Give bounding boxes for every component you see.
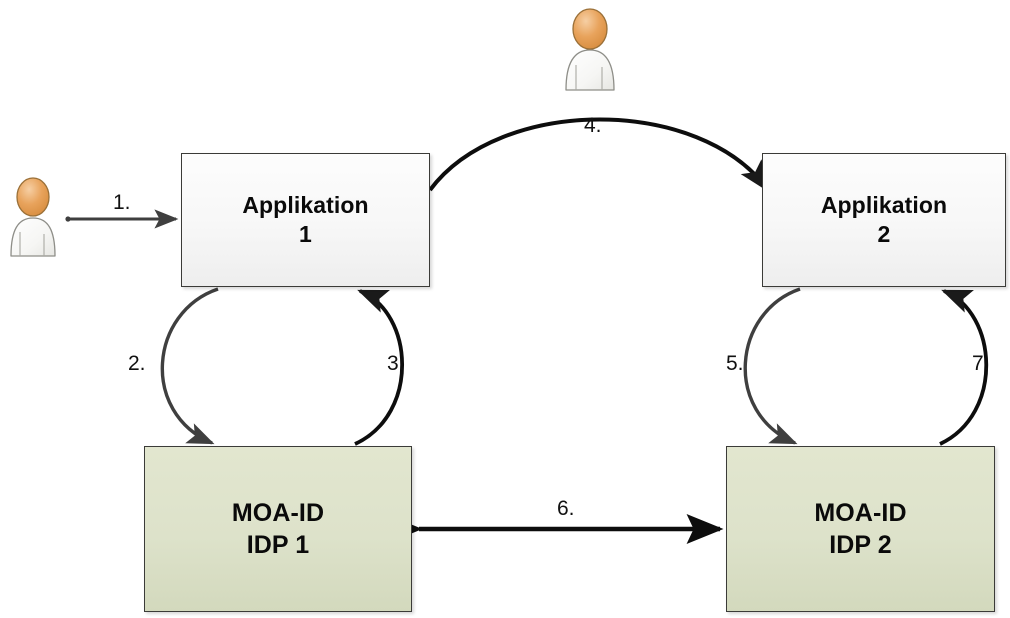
- step-6-label: 6.: [557, 498, 575, 519]
- application-1-index: 1: [299, 220, 312, 249]
- step-1-label: 1.: [113, 192, 131, 213]
- person-icon: [557, 4, 623, 92]
- application-2-title: Applikation: [821, 191, 947, 220]
- person-icon: [4, 172, 62, 258]
- user-actor-top: [557, 4, 623, 92]
- diagram-canvas: Applikation 1 Applikation 2 MOA-ID IDP 1…: [0, 0, 1010, 618]
- moa-id-idp-2-index: IDP 2: [829, 529, 892, 561]
- user-actor-left: [4, 172, 62, 258]
- step-7-label: 7.: [972, 353, 990, 374]
- connector-step-2: [162, 289, 218, 443]
- application-1-title: Applikation: [242, 191, 368, 220]
- moa-id-idp-2-node[interactable]: MOA-ID IDP 2: [726, 446, 995, 612]
- moa-id-idp-2-title: MOA-ID: [814, 497, 906, 529]
- application-2-node[interactable]: Applikation 2: [762, 153, 1006, 287]
- connector-step-5: [745, 289, 800, 443]
- application-1-node[interactable]: Applikation 1: [181, 153, 430, 287]
- step-2-label: 2.: [128, 353, 146, 374]
- step-4-label: 4.: [584, 115, 602, 136]
- step-5-label: 5.: [726, 353, 744, 374]
- step-3-label: 3.: [387, 353, 405, 374]
- moa-id-idp-1-node[interactable]: MOA-ID IDP 1: [144, 446, 412, 612]
- moa-id-idp-1-title: MOA-ID: [232, 497, 324, 529]
- moa-id-idp-1-index: IDP 1: [247, 529, 310, 561]
- application-2-index: 2: [878, 220, 891, 249]
